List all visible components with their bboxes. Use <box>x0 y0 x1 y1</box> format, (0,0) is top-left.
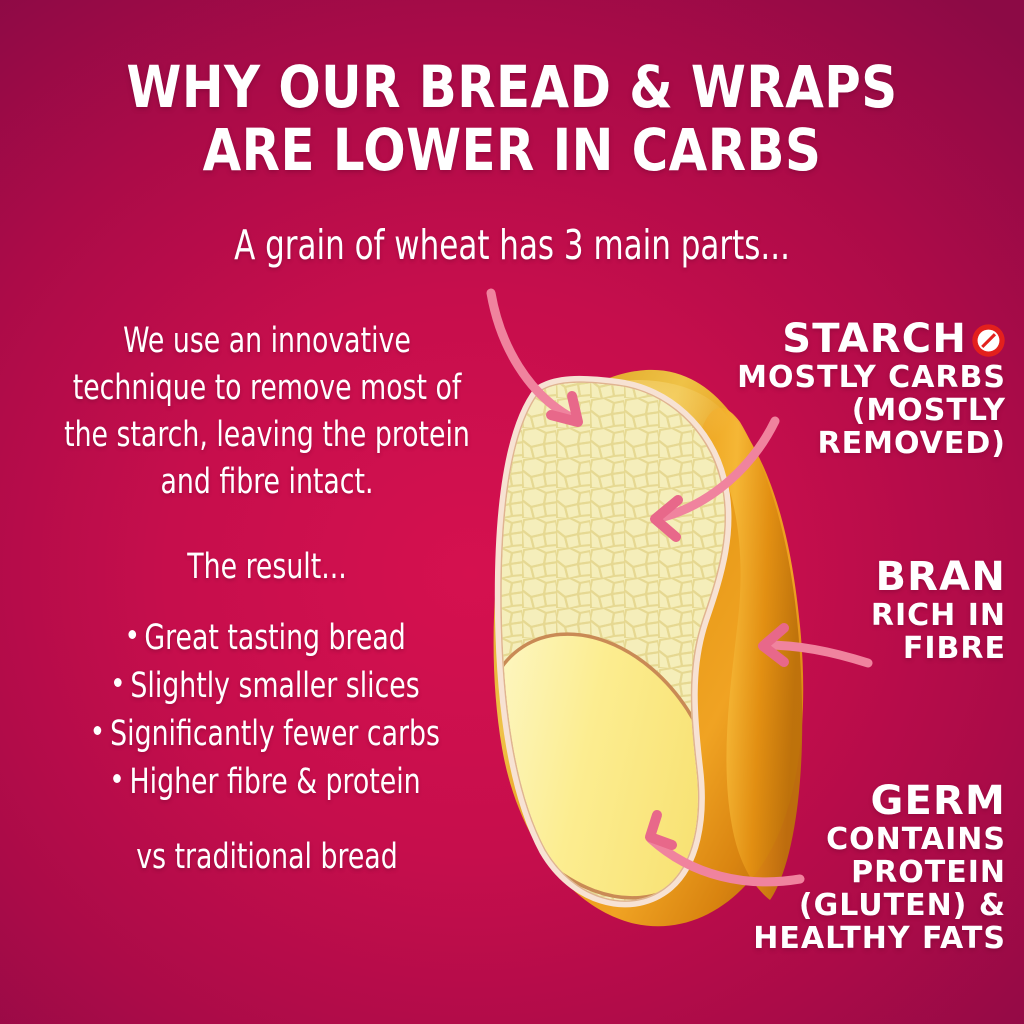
intro-paragraph: We use an innovative technique to remove… <box>64 318 470 506</box>
callout-starch-title-row: STARCH <box>676 318 1006 361</box>
result-heading: The result... <box>64 546 470 588</box>
infographic-canvas: WHY OUR BREAD & WRAPS ARE LOWER IN CARBS… <box>0 0 1024 1024</box>
callout-bran: BRAN RICH IN FIBRE <box>706 556 1006 665</box>
list-item-label: Slightly smaller slices <box>130 666 419 706</box>
list-item: Significantly fewer carbs <box>64 710 470 758</box>
bullet-dot-icon <box>128 630 136 639</box>
callout-germ-sub-3: (GLUTEN) & <box>676 889 1006 922</box>
list-item-label: Great tasting bread <box>144 618 405 658</box>
callout-starch-title: STARCH <box>782 318 967 361</box>
callout-starch-sub-3: REMOVED) <box>676 427 1006 460</box>
list-item: Slightly smaller slices <box>64 662 470 710</box>
callout-starch-sub-1: MOSTLY CARBS <box>676 361 1006 394</box>
list-item-label: Higher fibre & protein <box>130 762 421 802</box>
callout-germ-sub-2: PROTEIN <box>676 856 1006 889</box>
callout-starch-sub-2: (MOSTLY <box>676 394 1006 427</box>
list-item: Higher fibre & protein <box>64 758 470 806</box>
list-item-label: Significantly fewer carbs <box>110 714 440 754</box>
callout-germ-sub-1: CONTAINS <box>676 823 1006 856</box>
callout-bran-sub-1: RICH IN <box>706 599 1006 632</box>
page-title: WHY OUR BREAD & WRAPS ARE LOWER IN CARBS <box>72 56 953 182</box>
bullet-dot-icon <box>113 774 121 783</box>
left-text-column: We use an innovative technique to remove… <box>28 318 506 878</box>
bullet-dot-icon <box>94 726 102 735</box>
callout-bran-sub-2: FIBRE <box>706 632 1006 665</box>
page-title-line-2: ARE LOWER IN CARBS <box>72 119 953 182</box>
callout-germ-title: GERM <box>676 780 1006 823</box>
callout-germ-sub-4: HEALTHY FATS <box>676 922 1006 955</box>
benefit-list: Great tasting bread Slightly smaller sli… <box>64 614 470 806</box>
no-entry-icon <box>971 323 1006 358</box>
page-title-line-1: WHY OUR BREAD & WRAPS <box>126 53 897 121</box>
callout-starch: STARCH MOSTLY CARBS (MOSTLY REMOVED) <box>676 318 1006 460</box>
comparison-note: vs traditional bread <box>64 836 470 878</box>
callout-germ: GERM CONTAINS PROTEIN (GLUTEN) & HEALTHY… <box>676 780 1006 955</box>
bullet-dot-icon <box>114 678 122 687</box>
subtitle: A grain of wheat has 3 main parts... <box>82 222 942 268</box>
callout-bran-title: BRAN <box>706 556 1006 599</box>
list-item: Great tasting bread <box>64 614 470 662</box>
